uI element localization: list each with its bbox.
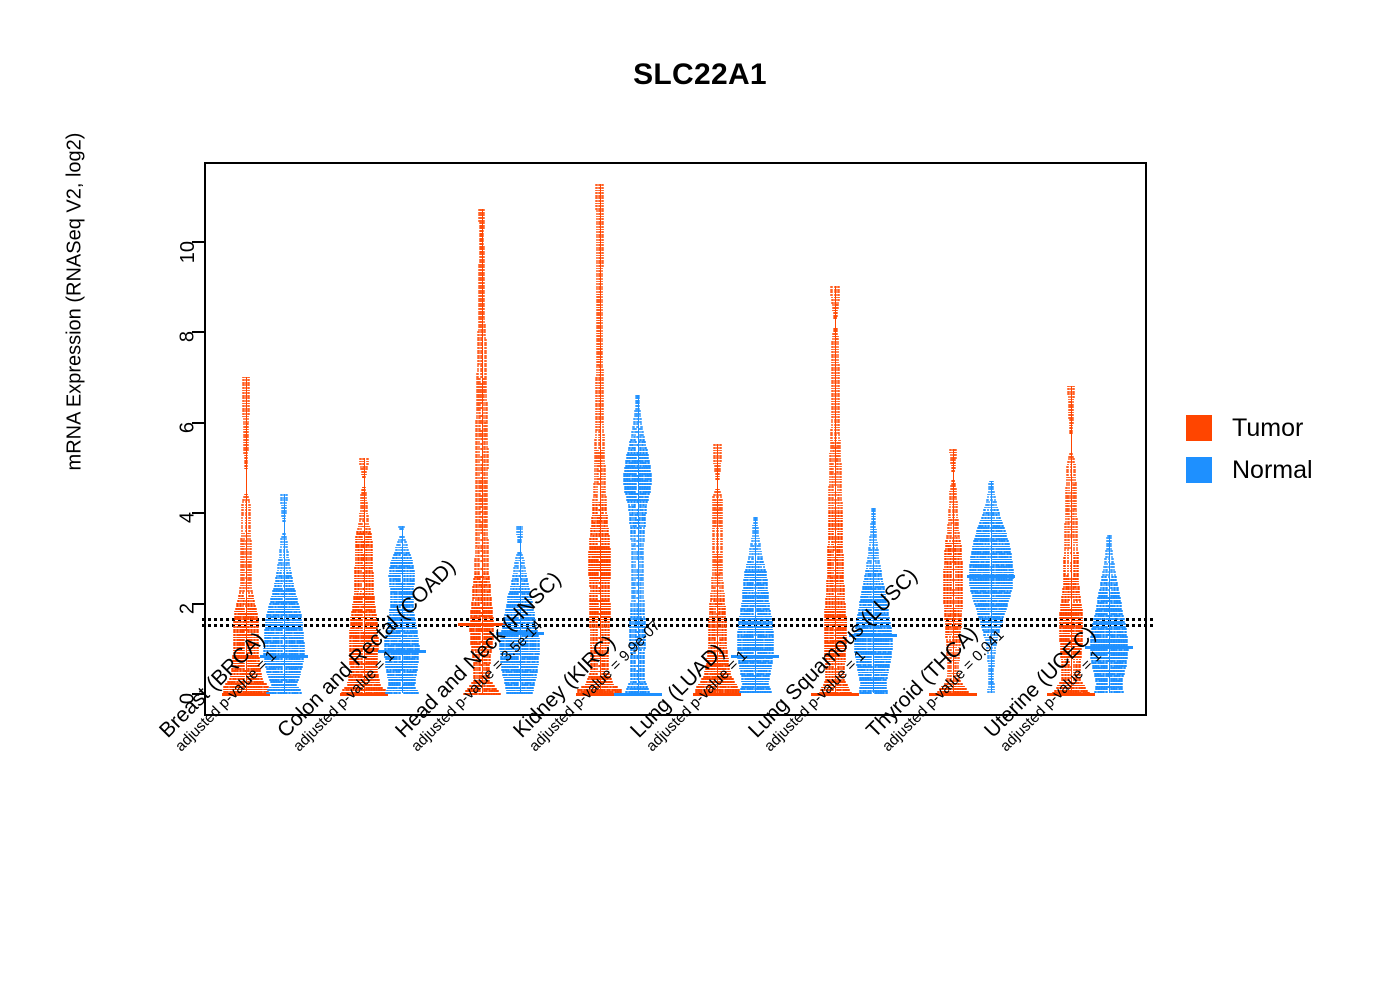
data-point [607,543,610,545]
data-point [247,405,250,407]
data-point [596,473,599,475]
data-point [595,559,598,561]
data-point [482,272,485,274]
data-point [478,537,481,539]
data-point [720,564,723,566]
data-point [831,427,834,429]
data-point [601,317,604,319]
data-point [484,373,487,375]
data-point [830,291,833,293]
data-point [365,497,368,499]
data-point [830,429,833,431]
data-point [595,585,598,587]
data-point [486,555,489,557]
data-point [837,380,840,382]
data-point [370,565,373,567]
data-point [242,574,245,576]
data-point [485,425,488,427]
data-point [482,238,485,240]
data-point [712,548,715,550]
data-point [247,421,250,423]
data-point [837,419,840,421]
data-point [945,636,948,638]
data-point [482,261,485,263]
data-point [720,520,723,522]
data-point [601,398,604,400]
data-point [489,594,492,596]
data-point [247,403,250,405]
data-point [959,543,962,545]
data-point [601,421,604,423]
data-point [247,499,250,501]
data-point [842,593,845,595]
data-point [837,432,840,434]
data-point [486,550,489,552]
data-point [841,570,844,572]
data-point [485,438,488,440]
data-point [837,416,840,418]
data-point [949,545,952,547]
data-point [601,314,604,316]
data-point [831,468,834,470]
data-point [486,469,489,471]
data-point [490,610,493,612]
data-point [608,569,611,571]
data-point [839,471,842,473]
data-point [489,597,492,599]
data-point [712,551,715,553]
data-point [601,335,604,337]
data-point [242,501,245,503]
data-point [246,496,249,498]
data-point [477,357,480,359]
data-point [960,587,963,589]
data-point [243,538,246,540]
data-point [601,309,604,311]
data-point [482,287,485,289]
data-point [602,439,605,441]
data-point [954,493,957,495]
data-point [482,290,485,292]
data-point [359,609,362,611]
data-point [596,481,599,483]
data-point [831,583,834,585]
data-point [840,497,843,499]
data-point [594,447,597,449]
data-point [720,517,723,519]
data-point [604,494,607,496]
data-point [959,545,962,547]
data-point [478,409,481,411]
data-point [601,208,604,210]
data-point [249,540,252,542]
data-point [489,599,492,601]
data-point [254,613,257,615]
data-point [601,244,604,246]
data-point [1072,391,1075,393]
data-point [837,289,840,291]
data-point [949,530,952,532]
data-point [486,560,489,562]
data-point [249,559,252,561]
data-point [837,354,840,356]
data-point [837,369,840,371]
data-point [360,549,363,551]
data-point [601,223,604,225]
data-point [601,338,604,340]
data-point [830,286,833,288]
data-point [490,615,493,617]
data-point [477,347,480,349]
data-point [714,611,717,613]
data-point [960,613,963,615]
data-point [601,216,604,218]
data-point [841,559,844,561]
data-point [721,580,724,582]
data-point [478,425,481,427]
data-point [247,387,250,389]
data-point [722,600,725,602]
data-point [484,344,487,346]
data-point [595,629,598,631]
data-point [245,460,248,462]
data-point [843,616,846,618]
data-point [958,540,961,542]
data-point [846,687,849,689]
data-point [595,632,598,634]
data-point [718,465,721,467]
data-point [834,437,837,439]
data-point [602,424,605,426]
data-point [485,495,488,497]
data-point [485,500,488,502]
data-point [603,489,606,491]
data-point [960,561,963,563]
data-point [485,422,488,424]
data-point [249,572,252,574]
data-point [950,524,953,526]
data-point [603,486,606,488]
data-point [840,515,843,517]
data-point [485,407,488,409]
data-point [247,390,250,392]
data-point [601,361,604,363]
data-point [484,370,487,372]
data-point [831,544,834,546]
data-point [478,404,481,406]
data-point [595,494,598,496]
data-point [477,563,480,565]
data-point [596,489,599,491]
data-point [601,390,604,392]
data-point [949,582,952,584]
data-point [840,518,843,520]
data-point [365,510,368,512]
data-point [723,603,726,605]
plot-area: 0246810 [204,162,1147,716]
data-point [601,192,604,194]
data-point [595,426,598,428]
data-point [365,505,368,507]
data-point [242,579,245,581]
data-point [486,451,489,453]
data-point [960,584,963,586]
data-point [835,317,838,319]
data-point [241,512,244,514]
data-point [478,513,481,515]
data-point [246,434,249,436]
data-point [249,551,252,553]
data-point [607,541,610,543]
data-point [830,437,833,439]
data-point [837,372,840,374]
data-point [720,499,723,501]
data-point [360,627,363,629]
data-point [370,554,373,556]
data-point [842,583,845,585]
data-point [478,446,481,448]
data-point [839,468,842,470]
data-point [482,222,485,224]
data-point [248,522,251,524]
data-point [841,580,844,582]
data-point [601,307,604,309]
data-point [246,431,249,433]
data-point [485,399,488,401]
data-point [831,471,834,473]
data-point [722,593,725,595]
data-point [720,515,723,517]
data-point [247,408,250,410]
data-point [604,507,607,509]
y-axis-tick-label: 6 [177,422,200,433]
data-point [249,577,252,579]
data-point [485,503,488,505]
data-point [719,455,722,457]
data-point [484,337,487,339]
data-point [596,616,599,618]
data-point [837,297,840,299]
data-point [949,535,952,537]
data-point [718,491,721,493]
data-point [601,203,604,205]
data-point [245,457,248,459]
data-point [246,439,249,441]
data-point [714,580,717,582]
data-point [720,522,723,524]
data-point [248,504,251,506]
data-point [720,509,723,511]
data-point [837,427,840,429]
data-point [485,511,488,513]
data-point [601,275,604,277]
data-point [482,230,485,232]
data-point [721,587,724,589]
data-point [830,289,833,291]
data-point [601,270,604,272]
data-point [840,541,843,543]
data-point [486,446,489,448]
data-point [607,577,610,579]
data-point [837,406,840,408]
data-point [834,432,837,434]
data-point [371,591,374,593]
data-point [477,352,480,354]
data-point [954,496,957,498]
data-point [601,377,604,379]
data-point [607,554,610,556]
data-point [831,486,834,488]
data-point [601,229,604,231]
data-point [953,485,956,487]
data-point [486,464,489,466]
data-point [605,520,608,522]
data-point [837,401,840,403]
data-point [1072,396,1075,398]
data-point [371,578,374,580]
data-point [601,283,604,285]
data-point [714,608,717,610]
data-point [949,566,952,568]
data-point [959,550,962,552]
data-point [841,567,844,569]
data-point [247,379,250,381]
data-point [480,376,483,378]
data-point [956,519,959,521]
data-point [837,341,840,343]
data-point [484,352,487,354]
data-point [482,225,485,227]
data-point [601,387,604,389]
data-point [601,299,604,301]
data-point [482,256,485,258]
data-point [254,611,257,613]
data-point [241,520,244,522]
data-point [366,520,369,522]
data-point [601,301,604,303]
data-point [480,363,483,365]
data-point [477,633,480,635]
data-point [601,288,604,290]
data-point [839,458,842,460]
data-point [249,538,252,540]
data-point [714,567,717,569]
data-point [837,408,840,410]
data-point [367,523,370,525]
data-point [367,526,370,528]
data-point [832,549,835,551]
data-point [720,533,723,535]
data-point [952,509,955,511]
data-point [601,236,604,238]
data-point [480,360,483,362]
data-point [837,424,840,426]
data-point [843,611,846,613]
data-point [601,273,604,275]
data-point [241,504,244,506]
data-point [719,447,722,449]
data-point [601,304,604,306]
data-point [476,373,479,375]
data-point [485,433,488,435]
data-point [831,627,834,629]
data-point [482,295,485,297]
data-point [246,452,249,454]
data-point [477,571,480,573]
data-point [242,546,245,548]
data-point [832,442,835,444]
data-point [721,577,724,579]
data-point [477,558,480,560]
data-point [486,474,489,476]
data-point [600,348,603,350]
data-point [247,416,250,418]
data-point [601,312,604,314]
data-point [482,209,485,211]
data-point [949,587,952,589]
data-point [836,307,839,309]
data-point [478,519,481,521]
data-point [840,507,843,509]
data-point [604,504,607,506]
data-point [839,479,842,481]
data-point [484,383,487,385]
data-point [484,386,487,388]
data-point [713,587,716,589]
data-point [831,424,834,426]
data-point [603,481,606,483]
data-point [842,590,845,592]
data-point [840,499,843,501]
data-point [832,564,835,566]
data-point [1072,388,1075,390]
data-point [486,547,489,549]
data-point [601,249,604,251]
data-point [477,552,480,554]
data-point [714,572,717,574]
data-point [249,569,252,571]
data-point [360,552,363,554]
data-point [960,600,963,602]
data-point [733,684,736,686]
data-point [370,562,373,564]
data-point [945,540,948,542]
y-axis-tick-label: 8 [177,331,200,342]
data-point [832,551,835,553]
data-point [360,601,363,603]
data-point [486,441,489,443]
data-point [483,329,486,331]
data-point [248,501,251,503]
data-point [960,605,963,607]
data-point [838,434,841,436]
data-point [264,683,267,685]
data-point [241,595,244,597]
data-point [378,684,381,686]
data-point [601,327,604,329]
data-point [607,574,610,576]
data-point [482,259,485,261]
data-point [956,524,959,526]
data-point [370,541,373,543]
data-point [603,483,606,485]
data-point [837,395,840,397]
data-point [595,543,598,545]
data-point [839,473,842,475]
data-point [486,529,489,531]
data-point [601,392,604,394]
data-point [480,350,483,352]
